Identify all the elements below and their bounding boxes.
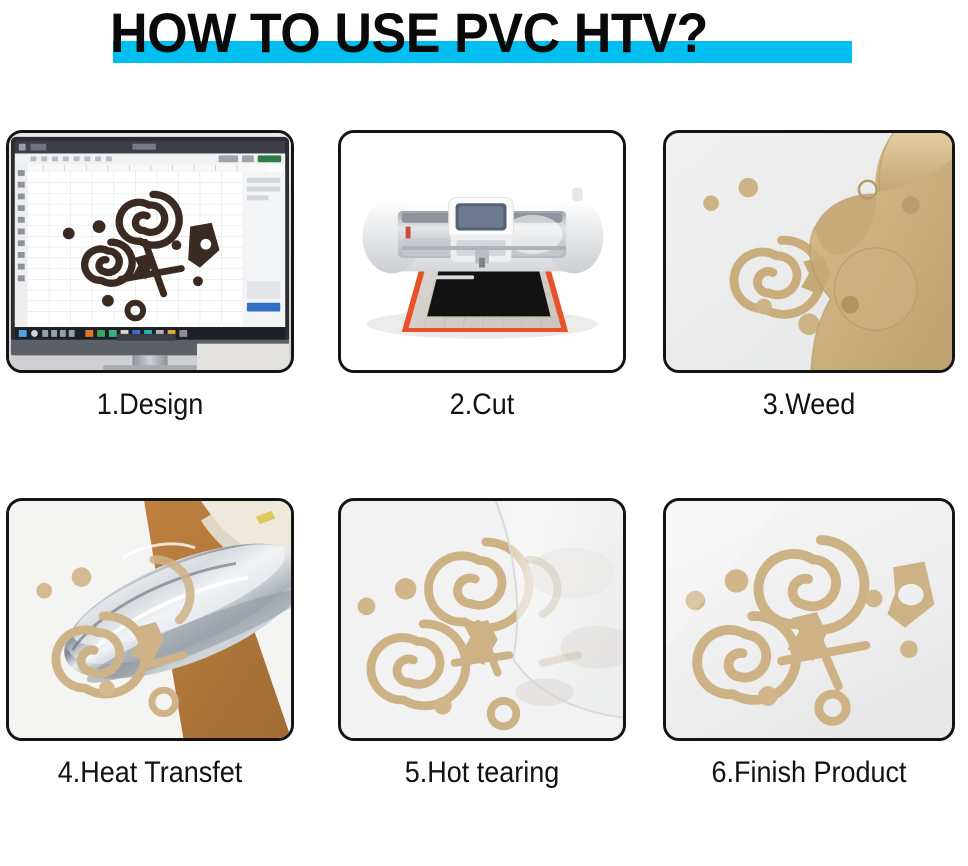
cutting-machine-illustration xyxy=(341,133,623,370)
page-title: HOW TO USE PVC HTV? xyxy=(110,0,708,68)
step-card-heat-transfer: 4.Heat Transfet xyxy=(6,498,306,866)
step-card-cut: 2.Cut xyxy=(338,130,638,498)
page-header: HOW TO USE PVC HTV? xyxy=(0,0,968,90)
step-card-design: 1.Design xyxy=(6,130,306,498)
design-software-illustration xyxy=(9,133,291,370)
step-caption-weed: 3.Weed xyxy=(678,388,941,422)
step-image-heat-transfer xyxy=(6,498,294,741)
step-card-weed: 3.Weed xyxy=(663,130,958,498)
step-image-hot-tearing xyxy=(338,498,626,741)
step-image-cut xyxy=(338,130,626,373)
step-image-design xyxy=(6,130,294,373)
steps-row-top: 1.Design xyxy=(0,130,968,498)
step-caption-design: 1.Design xyxy=(20,388,279,422)
step-caption-cut: 2.Cut xyxy=(352,388,611,422)
steps-row-bottom: 4.Heat Transfet xyxy=(0,498,968,866)
step-caption-finish-product: 6.Finish Product xyxy=(678,756,941,790)
step-caption-hot-tearing: 5.Hot tearing xyxy=(352,756,611,790)
step-image-finish-product xyxy=(663,498,955,741)
step-card-hot-tearing: 5.Hot tearing xyxy=(338,498,638,866)
step-caption-heat-transfer: 4.Heat Transfet xyxy=(20,756,279,790)
weeding-illustration xyxy=(666,133,952,370)
iron-press-illustration xyxy=(9,501,291,738)
finished-product-illustration xyxy=(666,501,952,738)
infographic-page: HOW TO USE PVC HTV? xyxy=(0,0,968,866)
peel-carrier-illustration xyxy=(341,501,623,738)
step-card-finish-product: 6.Finish Product xyxy=(663,498,958,866)
step-image-weed xyxy=(663,130,955,373)
steps-grid: 1.Design xyxy=(0,130,968,866)
